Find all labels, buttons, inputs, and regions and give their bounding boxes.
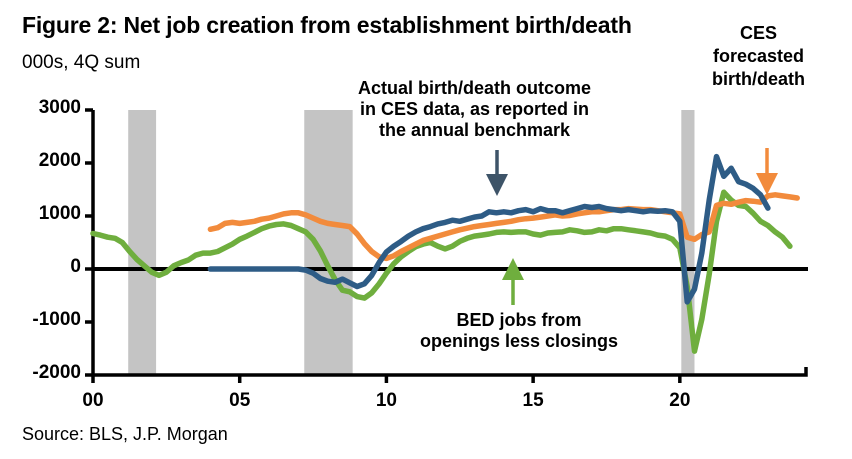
annotation-actual-line-1: Actual birth/death outcome bbox=[358, 78, 591, 99]
annotation-bed-line-2: openings less closings bbox=[420, 331, 618, 352]
annotation-actual-birth-death: Actual birth/death outcome in CES data, … bbox=[358, 78, 591, 141]
x-axis-label: 20 bbox=[655, 390, 705, 412]
y-axis-label: 2000 bbox=[39, 150, 81, 172]
annotation-ces-line-2: forecasted bbox=[712, 45, 805, 68]
y-axis-label: 1000 bbox=[39, 203, 81, 225]
x-axis-label: 00 bbox=[68, 390, 118, 412]
y-axis-label: 3000 bbox=[39, 97, 81, 119]
arrow-actual-head bbox=[486, 174, 508, 196]
y-axis-label: 0 bbox=[70, 256, 81, 278]
y-axis-label: -2000 bbox=[32, 362, 81, 384]
x-axis-spine bbox=[93, 367, 806, 375]
annotation-ces-line-1: CES bbox=[712, 22, 805, 45]
x-axis-label: 15 bbox=[508, 390, 558, 412]
annotation-ces-line-3: birth/death bbox=[712, 68, 805, 91]
x-axis-label: 05 bbox=[215, 390, 265, 412]
recession-band bbox=[304, 110, 352, 375]
annotation-bed-jobs: BED jobs from openings less closings bbox=[420, 310, 618, 352]
recession-band bbox=[128, 110, 156, 375]
annotation-ces-forecast: CES forecasted birth/death bbox=[712, 22, 805, 91]
y-axis-label: -1000 bbox=[32, 309, 81, 331]
annotation-bed-line-1: BED jobs from bbox=[420, 310, 618, 331]
x-axis-label: 10 bbox=[361, 390, 411, 412]
annotation-actual-line-3: the annual benchmark bbox=[358, 120, 591, 141]
annotation-actual-line-2: in CES data, as reported in bbox=[358, 99, 591, 120]
